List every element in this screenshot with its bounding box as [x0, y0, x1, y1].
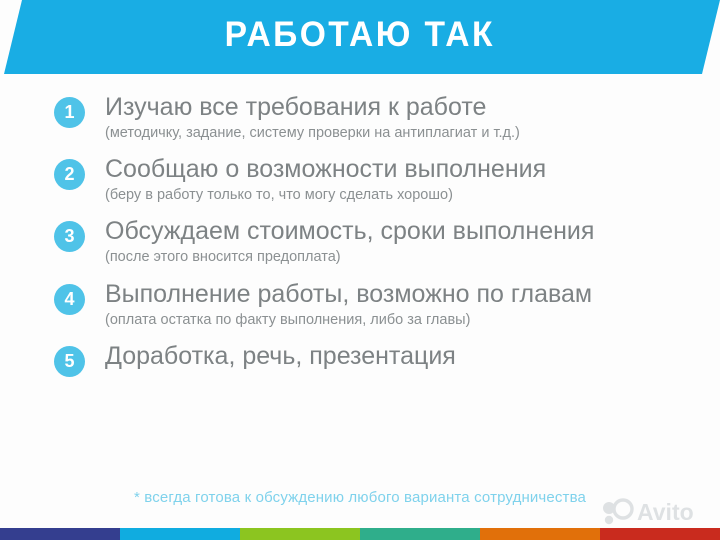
color-segment-4: [360, 528, 480, 540]
header-banner: РАБОТАЮ ТАК: [0, 0, 720, 74]
step-subtitle: (методичку, задание, систему проверки на…: [105, 123, 520, 143]
step-number-badge: 5: [54, 346, 85, 377]
list-item: 1 Изучаю все требования к работе (методи…: [0, 92, 720, 143]
step-text-block: Изучаю все требования к работе (методичк…: [105, 92, 520, 143]
color-segment-5: [480, 528, 600, 540]
step-number-label: 4: [64, 290, 74, 308]
list-item: 4 Выполнение работы, возможно по главам …: [0, 279, 720, 330]
footnote-text: * всегда готова к обсуждению любого вари…: [0, 489, 720, 506]
list-item: 3 Обсуждаем стоимость, сроки выполнения …: [0, 216, 720, 267]
step-subtitle: (оплата остатка по факту выполнения, либ…: [105, 310, 592, 330]
color-segment-2: [120, 528, 240, 540]
list-item: 5 Доработка, речь, презентация: [0, 341, 720, 377]
color-segment-6: [600, 528, 720, 540]
step-text-block: Доработка, речь, презентация: [105, 341, 456, 371]
step-title: Изучаю все требования к работе: [105, 92, 520, 122]
color-segment-1: [0, 528, 120, 540]
step-text-block: Обсуждаем стоимость, сроки выполнения (п…: [105, 216, 594, 267]
step-number-label: 5: [64, 352, 74, 370]
step-title: Обсуждаем стоимость, сроки выполнения: [105, 216, 594, 246]
step-number-badge: 1: [54, 97, 85, 128]
step-text-block: Выполнение работы, возможно по главам (о…: [105, 279, 592, 330]
steps-list: 1 Изучаю все требования к работе (методи…: [0, 92, 720, 377]
color-bar: [0, 528, 720, 540]
page-title: РАБОТАЮ ТАК: [225, 17, 495, 52]
list-item: 2 Сообщаю о возможности выполнения (беру…: [0, 154, 720, 205]
step-number-badge: 2: [54, 159, 85, 190]
step-number-label: 2: [64, 165, 74, 183]
poster-root: РАБОТАЮ ТАК 1 Изучаю все требования к ра…: [0, 0, 720, 540]
step-title: Сообщаю о возможности выполнения: [105, 154, 546, 184]
step-number-label: 1: [64, 103, 74, 121]
step-number-label: 3: [64, 227, 74, 245]
color-segment-3: [240, 528, 360, 540]
step-subtitle: (после этого вносится предоплата): [105, 247, 594, 267]
step-number-badge: 3: [54, 221, 85, 252]
step-title: Выполнение работы, возможно по главам: [105, 279, 592, 309]
step-text-block: Сообщаю о возможности выполнения (беру в…: [105, 154, 546, 205]
step-subtitle: (беру в работу только то, что могу сдела…: [105, 185, 546, 205]
step-title: Доработка, речь, презентация: [105, 341, 456, 371]
step-number-badge: 4: [54, 284, 85, 315]
